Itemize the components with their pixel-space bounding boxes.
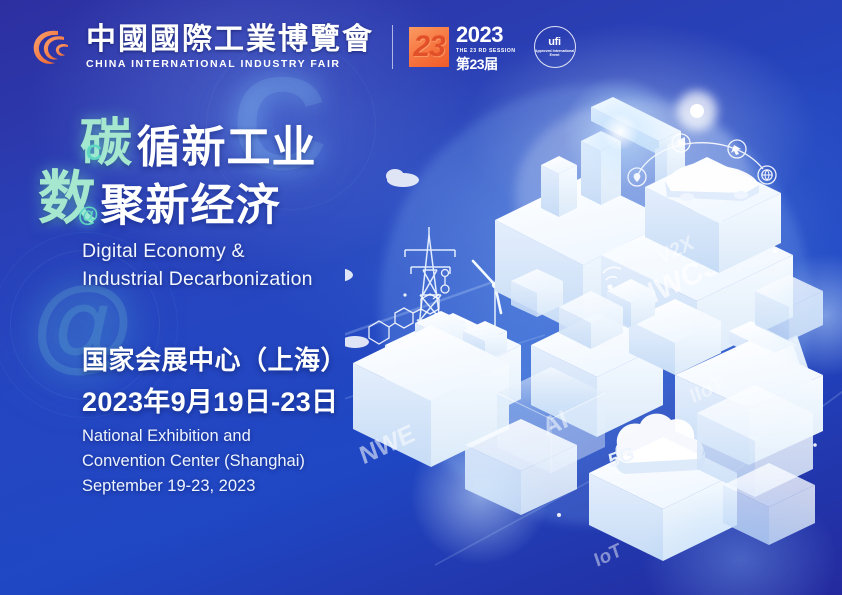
venue-date-en: September 19-23, 2023 — [82, 474, 305, 499]
logo-title-en: CHINA INTERNATIONAL INDUSTRY FAIR — [86, 58, 374, 70]
svg-text:IoT: IoT — [592, 540, 625, 572]
cif-swirl-logo-icon — [28, 23, 76, 71]
headline-rest-1: 循新工业 — [136, 126, 316, 170]
subtitle-line-2: Industrial Decarbonization — [82, 266, 313, 294]
venue-name-en-line-2: Convention Center (Shanghai) — [82, 449, 305, 474]
poster-canvas: C @ 中國國際工業博覽會 CHINA INTERNATIONAL INDUST… — [0, 0, 842, 595]
headline-line-2: 数 @ 聚新经济 — [38, 170, 316, 228]
headline-at-glyph: @ — [78, 204, 98, 228]
venue-name-en-line-1: National Exhibition and — [82, 424, 305, 449]
headline-line-1: 碳 C 循新工业 — [80, 118, 316, 176]
subtitle-block: Digital Economy & Industrial Decarboniza… — [82, 238, 313, 293]
logo-wordmark: 中國國際工業博覽會 CHINA INTERNATIONAL INDUSTRY F… — [86, 24, 374, 71]
logo-title-cn: 中國國際工業博覽會 — [86, 24, 374, 56]
headline-c-glyph: C — [86, 140, 102, 166]
venue-info-en: National Exhibition and Convention Cente… — [82, 424, 305, 499]
subtitle-line-1: Digital Economy & — [82, 238, 313, 266]
headline-rest-2: 聚新经济 — [100, 184, 280, 228]
venue-name-cn: 国家会展中心（上海） — [82, 340, 347, 377]
venue-date-cn: 2023年9月19日-23日 — [82, 380, 338, 419]
headline-block: 碳 C 循新工业 数 @ 聚新经济 — [80, 118, 316, 228]
session-year: 2023 — [456, 24, 516, 46]
isometric-smart-city-illustration: ES — [345, 45, 842, 575]
